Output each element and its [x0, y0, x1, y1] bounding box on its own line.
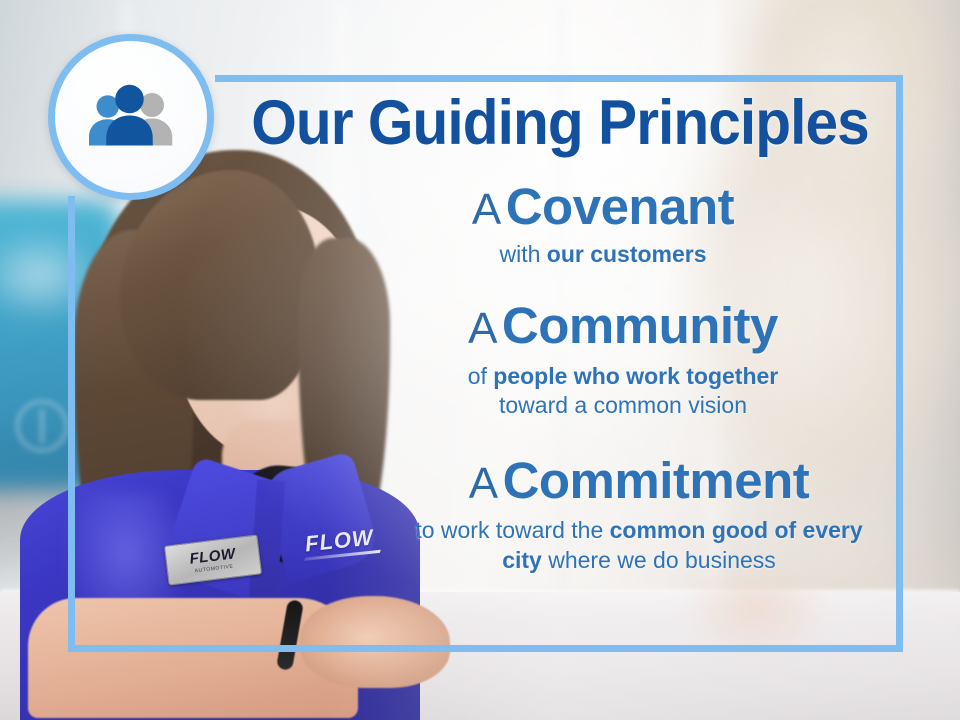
subtitle-regular: where we do business	[542, 547, 776, 573]
principle-title: A Commitment	[398, 454, 880, 508]
principle-article: A	[469, 459, 498, 508]
principles-list: A Covenant with our customers A Communit…	[320, 180, 880, 579]
principle-keyword: Covenant	[506, 178, 734, 235]
principle-title: A Covenant	[326, 180, 880, 234]
subtitle-bold: our customers	[547, 241, 707, 267]
group-of-people-icon	[83, 81, 179, 153]
guiding-principles-graphic: FLOW AUTOMOTIVE FLOW Our	[0, 0, 960, 720]
principle-title: A Community	[366, 299, 880, 353]
subtitle-regular: with	[499, 241, 546, 267]
principle-article: A	[472, 185, 501, 234]
principle-commitment: A Commitment to work toward the common g…	[398, 454, 880, 575]
principle-article: A	[468, 304, 497, 353]
clasped-hands	[300, 596, 450, 688]
principle-keyword: Commitment	[503, 452, 810, 509]
principle-covenant: A Covenant with our customers	[326, 180, 880, 269]
people-badge	[48, 34, 214, 200]
subtitle-regular: of	[468, 363, 494, 389]
principle-community: A Community of people who work together …	[366, 299, 880, 420]
subtitle-regular: to work toward the	[415, 517, 609, 543]
principle-subtitle: of people who work together toward a com…	[366, 362, 880, 421]
principle-subtitle: to work toward the common good of every …	[398, 516, 880, 575]
principle-keyword: Community	[502, 297, 778, 354]
subtitle-regular: toward a common vision	[499, 392, 747, 418]
principle-subtitle: with our customers	[326, 240, 880, 269]
subtitle-bold: people who work together	[493, 363, 778, 389]
page-title: Our Guiding Principles	[239, 92, 881, 155]
